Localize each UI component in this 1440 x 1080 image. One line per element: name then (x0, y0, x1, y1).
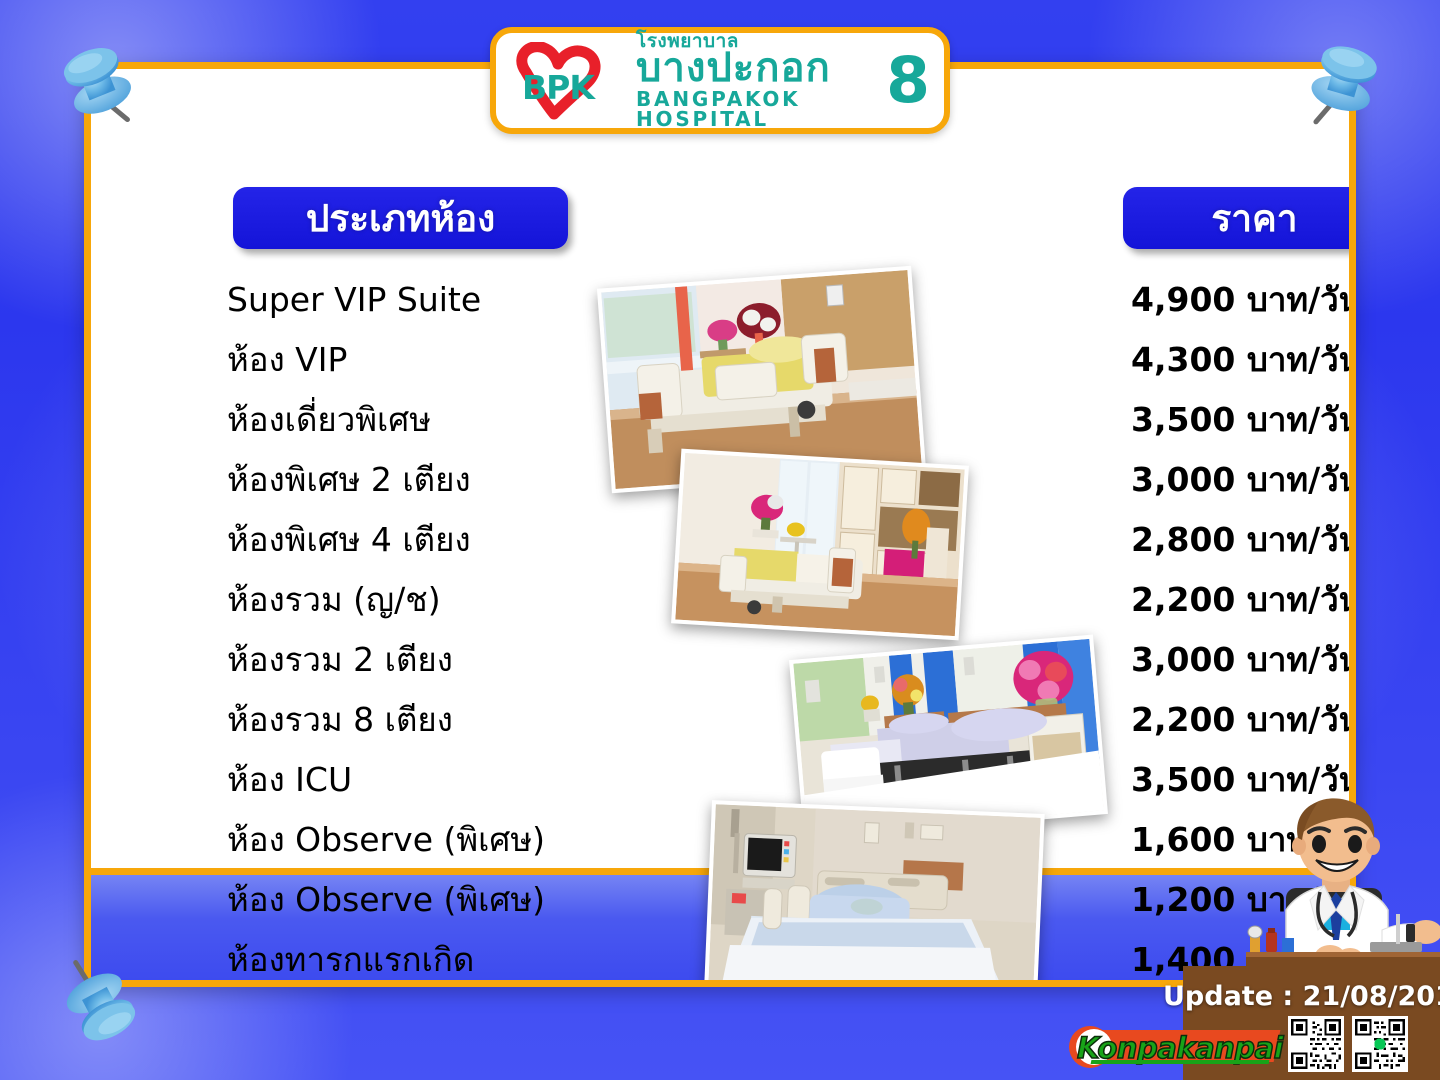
poster-card: ประเภทห้อง ราคา Super VIP Suite ห้อง VIP… (84, 62, 1356, 987)
list-item: 4,300 บาท/วัน (1131, 329, 1349, 389)
logo-inner: BPK โรงพยาบาล บางปะกอก BANGPAKOK HOSPITA… (496, 32, 944, 129)
list-item: ห้องรวม (ญ/ช) (227, 569, 667, 629)
list-item: ห้องเดี่ยวพิเศษ (227, 389, 667, 449)
doctor-illustration (1246, 780, 1440, 975)
list-item: ห้องรวม 8 เตียง (227, 689, 667, 749)
poster-card-inner: ประเภทห้อง ราคา Super VIP Suite ห้อง VIP… (91, 69, 1349, 980)
logo-thai-name: บางปะกอก (636, 48, 874, 88)
konpakanpai-watermark[interactable]: Konpakanpai (1065, 1026, 1277, 1068)
list-item: 2,200 บาท/วัน (1131, 689, 1349, 749)
list-item: 4,900 บาท/วัน (1131, 269, 1349, 329)
list-item: ห้องพิเศษ 2 เตียง (227, 449, 667, 509)
list-item: ห้อง Observe (พิเศษ) (227, 869, 667, 929)
pushpin-icon-bottom-left (44, 948, 156, 1060)
logo-bpk-text: BPK (522, 68, 594, 107)
room-photo-2 (671, 449, 969, 641)
observe-room-monitor-photo (708, 804, 1040, 980)
room-type-list: Super VIP Suite ห้อง VIP ห้องเดี่ยวพิเศษ… (227, 269, 667, 980)
header-room-type-label: ประเภทห้อง (306, 189, 495, 248)
logo-english-name: BANGPAKOK HOSPITAL (636, 89, 874, 129)
logo-branch-number: 8 (886, 54, 930, 108)
pushpin-icon-top-left (42, 28, 154, 140)
list-item: 3,500 บาท/วัน (1131, 389, 1349, 449)
update-date: Update : 21/08/2018 (1163, 981, 1440, 1012)
list-item: 3,000 บาท/วัน (1131, 449, 1349, 509)
list-item: Super VIP Suite (227, 269, 667, 329)
header-room-type: ประเภทห้อง (233, 187, 568, 249)
qr-code-website[interactable] (1288, 1016, 1344, 1072)
logo-thai-block: โรงพยาบาล บางปะกอก BANGPAKOK HOSPITAL (636, 32, 874, 129)
header-price: ราคา (1123, 187, 1349, 249)
list-item: ห้องทารกแรกเกิด (227, 929, 667, 980)
list-item: ห้อง Observe (พิเศษ) (227, 809, 667, 869)
special-room-cabinet-photo (675, 453, 964, 636)
list-item: 3,000 บาท/วัน (1131, 629, 1349, 689)
heart-icon: BPK (510, 42, 628, 120)
list-item: 2,200 บาท/วัน (1131, 569, 1349, 629)
qr-code-line[interactable] (1352, 1016, 1408, 1072)
list-item: ห้องรวม 2 เตียง (227, 629, 667, 689)
list-item: ห้องพิเศษ 4 เตียง (227, 509, 667, 569)
pushpin-icon-top-right (1288, 26, 1400, 138)
room-photo-4 (704, 800, 1044, 980)
watermark-underline (1091, 1060, 1270, 1064)
list-item: 2,800 บาท/วัน (1131, 509, 1349, 569)
header-price-label: ราคา (1211, 189, 1297, 248)
hospital-logo: BPK โรงพยาบาล บางปะกอก BANGPAKOK HOSPITA… (490, 27, 950, 134)
list-item: ห้อง VIP (227, 329, 667, 389)
list-item: ห้อง ICU (227, 749, 667, 809)
